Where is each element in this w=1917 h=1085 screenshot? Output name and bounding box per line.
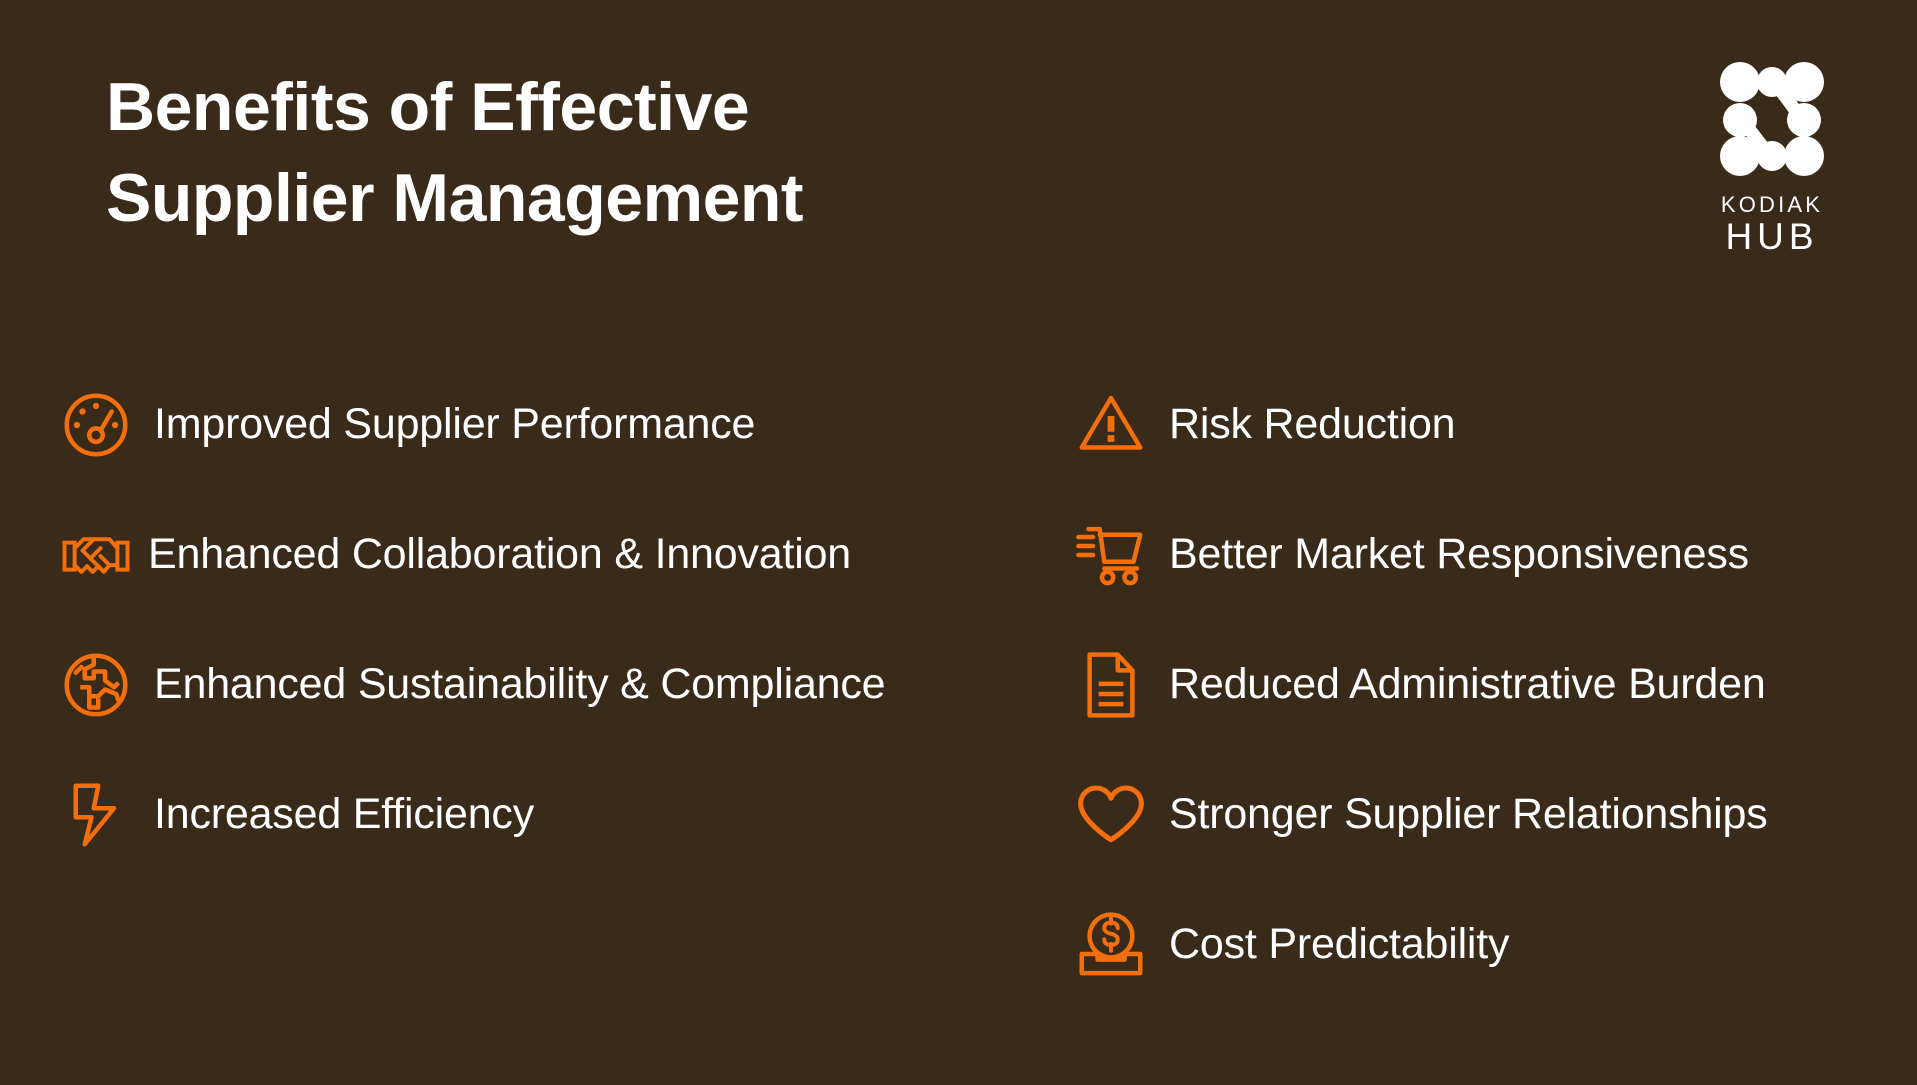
benefits-column-left: Improved Supplier Performance	[60, 360, 1070, 880]
lightning-icon	[60, 779, 132, 851]
benefit-item-increased-efficiency: Increased Efficiency	[60, 750, 1070, 880]
benefit-label: Enhanced Collaboration & Innovation	[148, 531, 851, 578]
logo-wordmark: KODIAK HUB	[1682, 194, 1862, 255]
handshake-icon	[60, 519, 132, 591]
benefits-column-right: Risk Reduction Bette	[1075, 360, 1905, 1010]
benefit-label: Reduced Administrative Burden	[1169, 661, 1766, 708]
warning-triangle-icon	[1075, 389, 1147, 461]
infographic-slide: Benefits of Effective Supplier Managemen…	[0, 0, 1917, 1085]
benefits-grid: Improved Supplier Performance	[0, 360, 1917, 1085]
benefit-item-reduced-administrative-burden: Reduced Administrative Burden	[1075, 620, 1905, 750]
shopping-cart-icon	[1075, 519, 1147, 591]
header: Benefits of Effective Supplier Managemen…	[0, 0, 1917, 300]
benefit-item-enhanced-sustainability-compliance: Enhanced Sustainability & Compliance	[60, 620, 1070, 750]
heart-icon	[1075, 779, 1147, 851]
coin-deposit-icon	[1075, 909, 1147, 981]
document-icon	[1075, 649, 1147, 721]
benefit-label: Better Market Responsiveness	[1169, 531, 1749, 578]
benefit-item-enhanced-collaboration-innovation: Enhanced Collaboration & Innovation	[60, 490, 1070, 620]
benefit-item-improved-supplier-performance: Improved Supplier Performance	[60, 360, 1070, 490]
kodiak-hub-dots-logo-icon	[1708, 60, 1836, 182]
benefit-label: Improved Supplier Performance	[154, 401, 755, 448]
globe-icon	[60, 649, 132, 721]
benefit-item-risk-reduction: Risk Reduction	[1075, 360, 1905, 490]
benefit-label: Stronger Supplier Relationships	[1169, 791, 1768, 838]
logo-name-top: KODIAK	[1682, 194, 1862, 216]
benefit-label: Increased Efficiency	[154, 791, 534, 838]
benefit-item-cost-predictability: Cost Predictability	[1075, 880, 1905, 1010]
benefit-item-stronger-supplier-relationships: Stronger Supplier Relationships	[1075, 750, 1905, 880]
benefit-label: Risk Reduction	[1169, 401, 1455, 448]
benefit-label: Cost Predictability	[1169, 921, 1509, 968]
page-title: Benefits of Effective Supplier Managemen…	[106, 62, 1156, 244]
brand-logo: KODIAK HUB	[1682, 60, 1862, 240]
logo-name-bottom: HUB	[1682, 218, 1862, 255]
benefit-label: Enhanced Sustainability & Compliance	[154, 661, 885, 708]
gauge-icon	[60, 389, 132, 461]
benefit-item-better-market-responsiveness: Better Market Responsiveness	[1075, 490, 1905, 620]
